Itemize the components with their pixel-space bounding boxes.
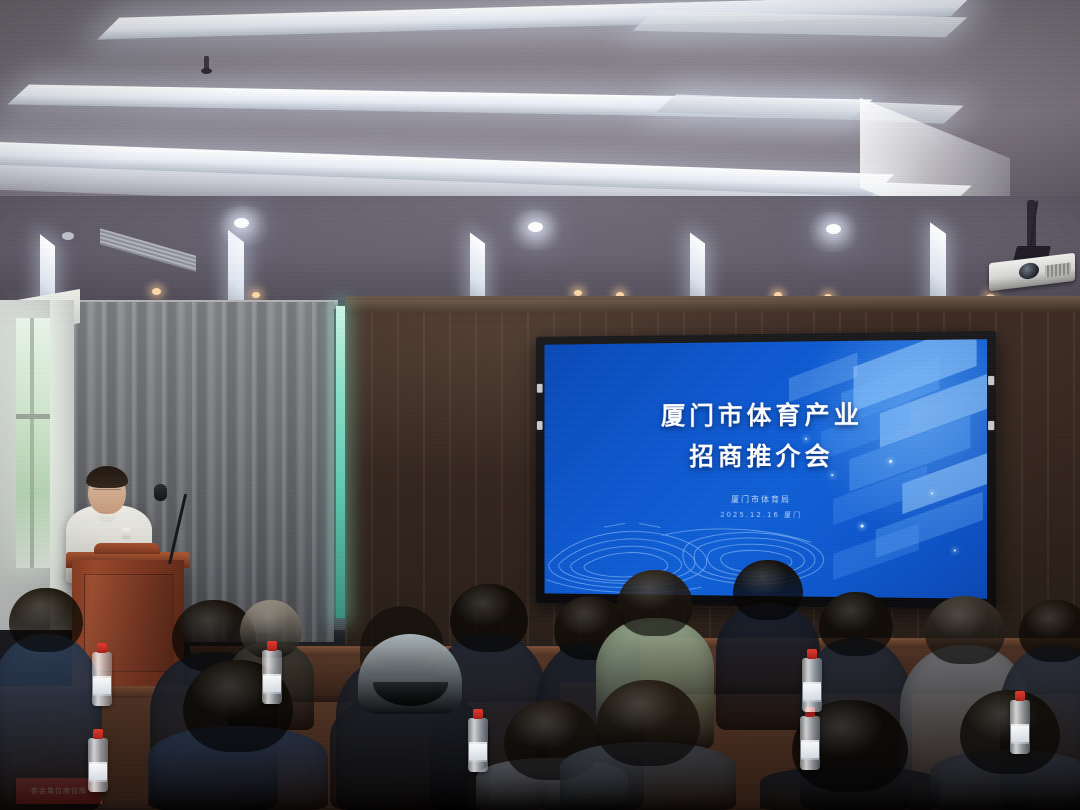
- speaker-glasses-icon: [93, 489, 121, 495]
- attendee-plaid-blue: [0, 588, 102, 810]
- ceiling-projector: [985, 200, 1080, 296]
- water-bottle-label: [469, 744, 487, 760]
- water-bottle-label: [801, 742, 819, 758]
- attendee-front-black: [760, 700, 940, 810]
- wall-accent-light-strip: [336, 306, 345, 618]
- attendee-head: [925, 596, 1005, 664]
- water-bottle-label: [263, 676, 281, 692]
- screen-title-line-2: 招商推介会: [544, 436, 987, 473]
- window-mullion-vertical: [30, 318, 34, 568]
- water-bottle-label: [803, 684, 821, 700]
- window: [16, 318, 50, 568]
- water-bottle: [802, 658, 822, 712]
- ceiling-downlight-2: [528, 222, 543, 232]
- water-bottle: [468, 718, 488, 772]
- attendee-front-puffer: [560, 680, 736, 810]
- screen-bezel-button-right-1[interactable]: [988, 376, 994, 385]
- ceiling-downlight-3: [826, 224, 841, 234]
- warm-downlight-1: [152, 288, 161, 295]
- water-bottle: [88, 738, 108, 792]
- screen-title: 厦门市体育产业 招商推介会: [544, 394, 987, 473]
- screen-bezel-button-left-1[interactable]: [537, 384, 543, 393]
- smoke-detector-icon: [62, 232, 74, 240]
- attendee-head: [819, 592, 893, 656]
- water-bottle-label: [93, 678, 111, 694]
- screen-sparkle-4: [954, 549, 956, 551]
- attendee-head: [9, 588, 83, 652]
- screen-sparkle-3: [861, 525, 864, 528]
- ceiling-sprinkler-icon: [204, 56, 209, 72]
- projector-cable: [1030, 201, 1060, 250]
- speaker-badge: [122, 528, 130, 539]
- microphone-head-icon: [154, 484, 167, 501]
- conference-hall-photo: 厦门市体育产业 招商推介会 厦门市体育局 2025.12.16 厦门 参会单位席…: [0, 0, 1080, 810]
- attendee-head: [1019, 600, 1080, 662]
- water-bottle-label: [89, 764, 107, 780]
- attendee-head: [733, 560, 803, 620]
- screen-bezel-button-left-2[interactable]: [537, 421, 543, 430]
- water-bottle: [1010, 700, 1030, 754]
- ceiling-downlight-1: [234, 218, 249, 228]
- screen-sparkle-5: [831, 474, 833, 476]
- attendee-head: [596, 680, 700, 766]
- attendee-front-right: [930, 690, 1080, 810]
- warm-downlight-2: [252, 292, 260, 298]
- attendee-head: [617, 570, 693, 636]
- water-bottle-label: [1011, 726, 1029, 742]
- water-bottle: [262, 650, 282, 704]
- screen-bezel-button-right-2[interactable]: [988, 421, 994, 430]
- water-bottle: [92, 652, 112, 706]
- screen-organizer: 厦门市体育局: [544, 493, 987, 505]
- attendee-body: [0, 634, 102, 810]
- screen-title-line-1: 厦门市体育产业: [661, 400, 863, 430]
- attendee-front-cap: [330, 634, 490, 810]
- attendee-front-navy: [148, 660, 328, 810]
- water-bottle: [800, 716, 820, 770]
- ceiling: [0, 0, 1080, 330]
